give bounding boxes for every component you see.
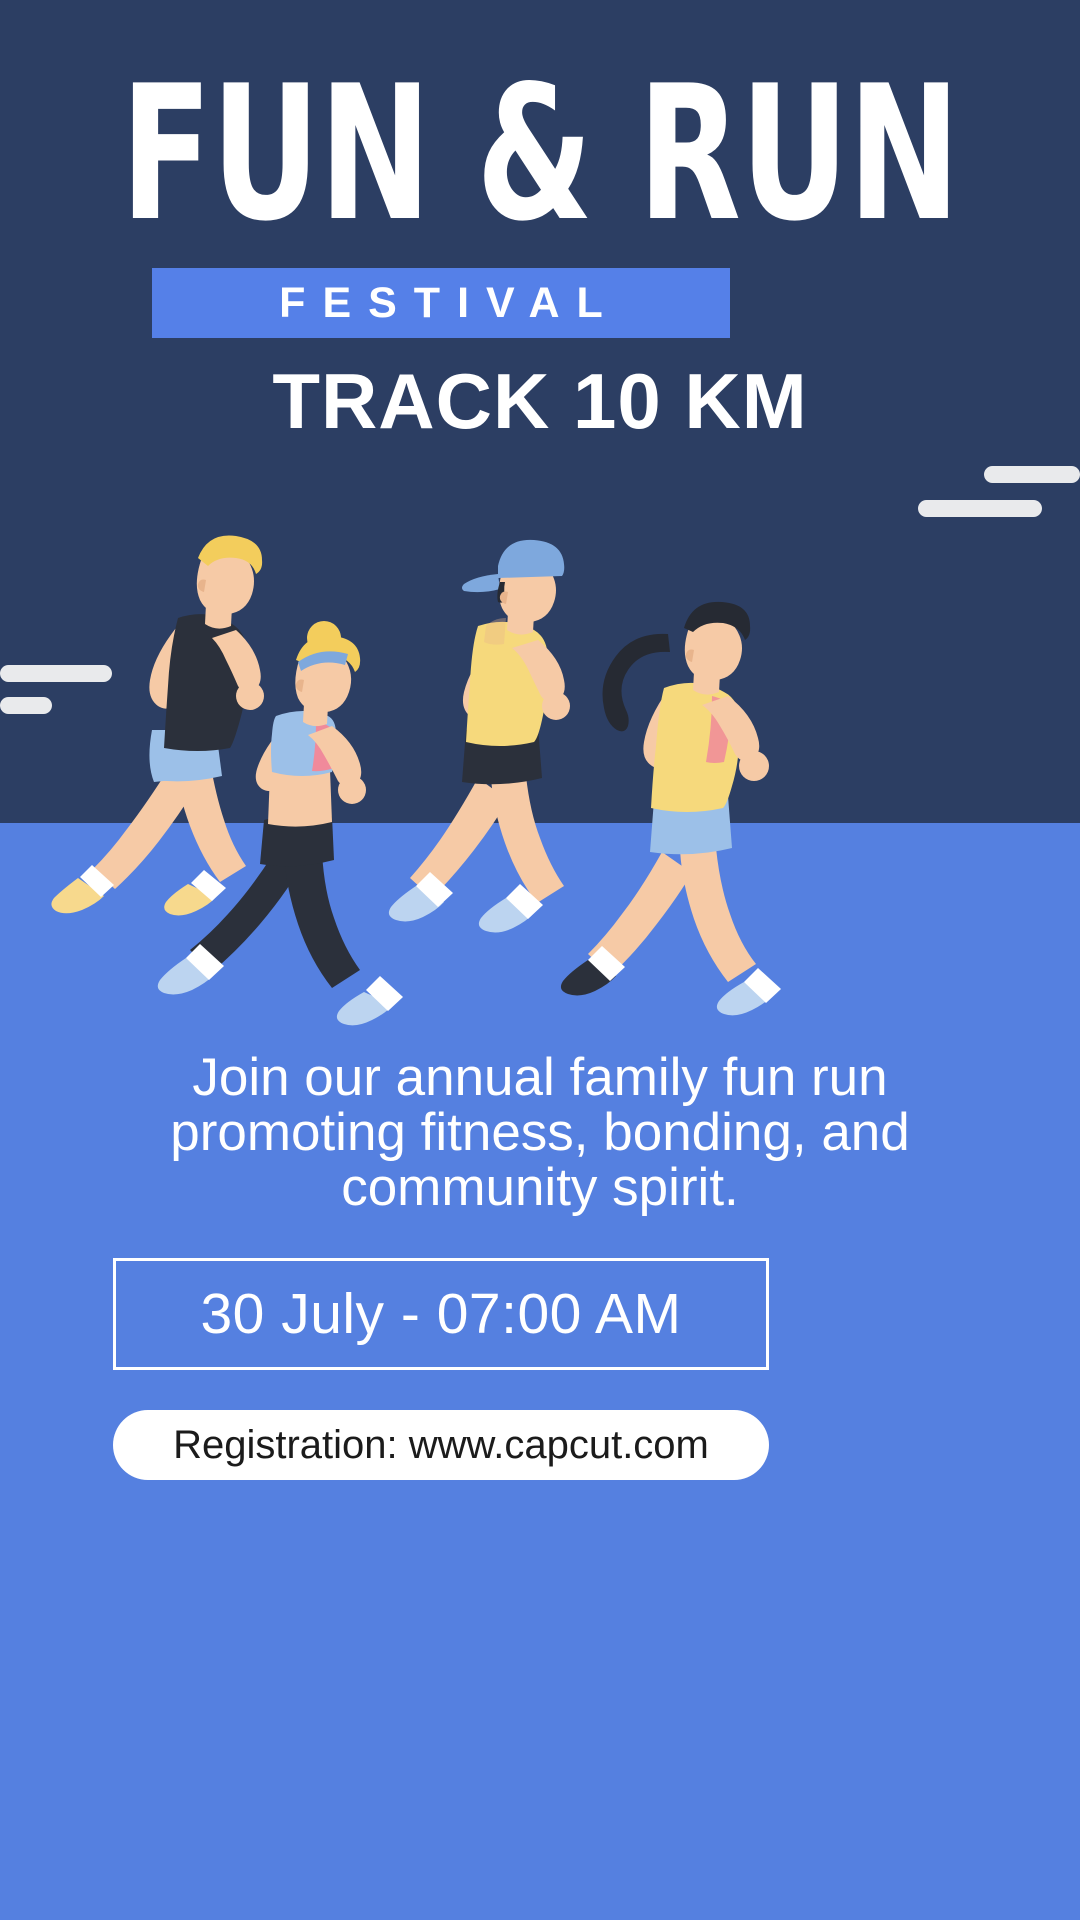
description-text: Join our annual family fun run promoting… (70, 1050, 1010, 1215)
event-datetime-box: 30 July - 07:00 AM (113, 1258, 769, 1370)
poster-title: FUN & RUN (108, 66, 972, 242)
poster-subtitle: TRACK 10 KM (0, 356, 1080, 446)
festival-label: FESTIVAL (262, 279, 620, 328)
runner-1-group (51, 535, 264, 915)
registration-button[interactable]: Registration: www.capcut.com (113, 1410, 769, 1480)
dash-right-upper-icon (984, 466, 1080, 483)
description-line-3: community spirit. (70, 1160, 1010, 1215)
four-runners-illustration: .skin { fill:#f6caa6; } .skinD { fill:#e… (0, 500, 1080, 1060)
registration-label: Registration: www.capcut.com (173, 1423, 709, 1468)
runner-4-group (561, 602, 781, 1015)
festival-band: FESTIVAL (152, 268, 730, 338)
poster-canvas: FUN & RUN FESTIVAL TRACK 10 KM .skin { f… (0, 0, 1080, 1920)
description-line-1: Join our annual family fun run (70, 1050, 1010, 1105)
runner-3-group (389, 540, 570, 933)
event-datetime-label: 30 July - 07:00 AM (200, 1281, 681, 1347)
description-line-2: promoting fitness, bonding, and (70, 1105, 1010, 1160)
